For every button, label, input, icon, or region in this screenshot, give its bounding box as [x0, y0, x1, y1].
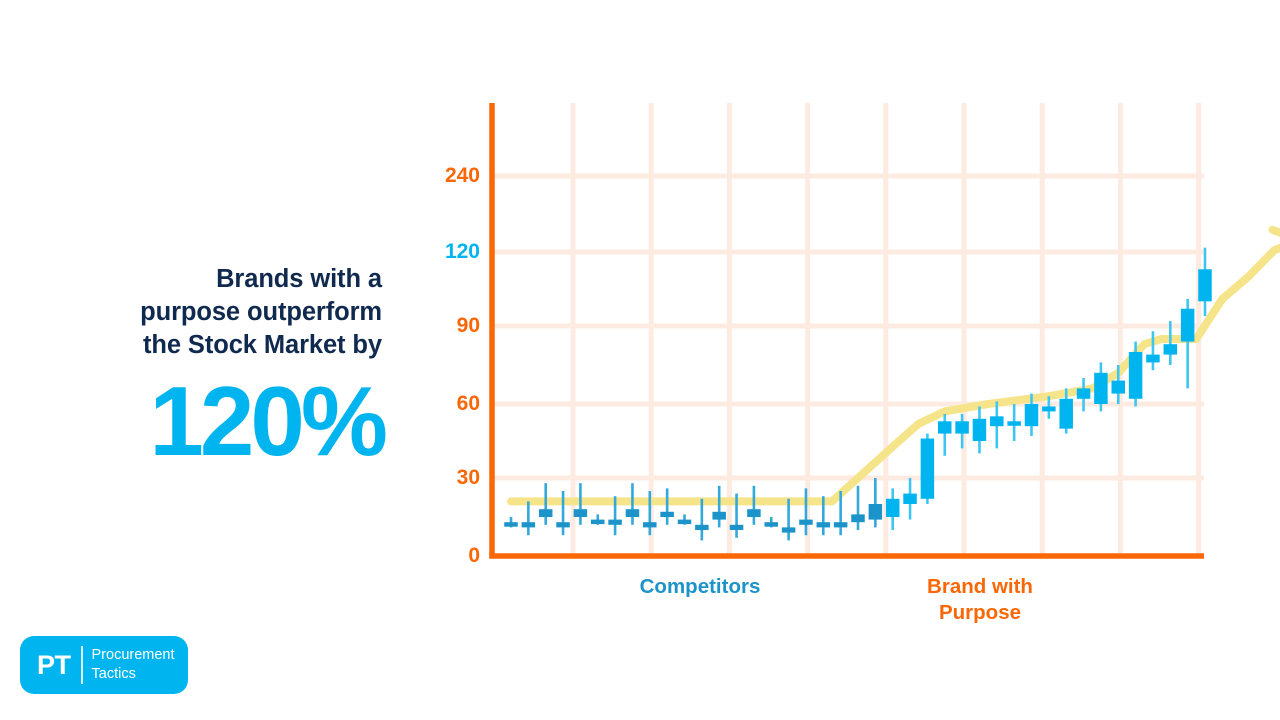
candle-body [539, 509, 553, 517]
candle-body [1112, 381, 1126, 394]
candle-body [1146, 355, 1160, 363]
candle-body [1164, 344, 1178, 354]
trend-line-group [511, 230, 1280, 502]
candle-body [1077, 388, 1091, 398]
candle-body [747, 509, 761, 517]
x-axis-category-competitors: Competitors [570, 574, 830, 600]
candle-body [695, 525, 709, 530]
trend-line [511, 241, 1280, 502]
candle-body [1042, 406, 1056, 411]
candle-body [660, 512, 674, 517]
candlestick-chart: 0306090120240 CompetitorsBrand withPurpo… [0, 0, 1280, 720]
candle-body [903, 494, 917, 504]
candle-body [1007, 421, 1021, 426]
candle-body [799, 520, 813, 525]
candle-body [990, 416, 1004, 426]
candle-body [574, 509, 588, 517]
candle-body [1129, 352, 1143, 399]
candle-body [1198, 269, 1212, 301]
candle-body [626, 509, 640, 517]
candle-body [730, 525, 744, 530]
candle-body [765, 522, 779, 527]
candle-body [643, 522, 657, 527]
candle-body [782, 527, 796, 532]
candle-body [1059, 399, 1073, 429]
candle-body [522, 522, 536, 527]
candlestick-series-group [504, 248, 1212, 541]
candle-body [608, 520, 622, 525]
candle-body [504, 522, 518, 527]
candle-body [973, 419, 987, 441]
x-axis-category-brand-with-purpose: Brand withPurpose [850, 574, 1110, 626]
x-axis-category-line-1: Brand with [927, 575, 1033, 598]
x-axis-category-line-2: Purpose [939, 601, 1021, 624]
candle-body [712, 512, 726, 520]
candle-body [817, 522, 831, 527]
candle-body [851, 514, 865, 522]
candle-body [869, 504, 883, 520]
candle-body [955, 421, 969, 433]
candle-body [886, 499, 900, 517]
candle-body [834, 522, 848, 527]
candle-body [938, 421, 952, 433]
candle-body [1025, 404, 1039, 426]
candle-body [1181, 309, 1195, 342]
candle-body [678, 520, 692, 525]
candle-body [1094, 373, 1108, 404]
candle-body [921, 439, 935, 499]
candle-body [591, 520, 605, 525]
candle-body [556, 522, 570, 527]
